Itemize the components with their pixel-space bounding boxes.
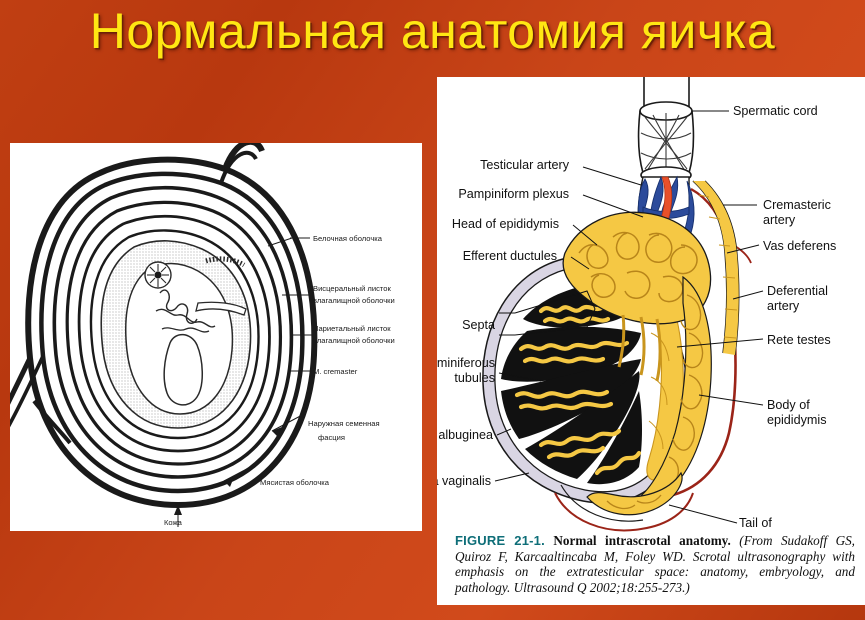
label-testicular-artery: Testicular artery [480, 158, 570, 172]
label-cremasteric-artery: Cremasteric [763, 198, 831, 212]
label-text: Наружная семенная [308, 419, 380, 428]
label-text: Кожа [164, 518, 183, 527]
label-tunica-vaginalis: Tunica vaginalis [437, 474, 491, 488]
testis-body-shaded [101, 241, 250, 428]
label-text: влагалищной оболочки [313, 296, 395, 305]
label-cremasteric-artery-line2: artery [763, 213, 796, 227]
label-text: влагалищной оболочки [313, 336, 395, 345]
label-seminiferous-tubules: Seminiferous [437, 356, 495, 370]
label-tunica-albuginea: Белочная оболочка [313, 234, 383, 243]
right-figure-panel: Testicular artery Pampiniform plexus Hea… [437, 77, 865, 605]
left-figure-panel: Белочная оболочка Висцеральный листок вл… [10, 143, 422, 531]
label-text: Висцеральный листок [313, 284, 392, 293]
label-text: фасция [318, 433, 345, 442]
label-pampiniform-plexus: Pampiniform plexus [458, 187, 569, 201]
vessel-rosette [145, 262, 171, 288]
label-efferent-ductules: Efferent ductules [463, 249, 557, 263]
figure-number: FIGURE 21-1. [455, 533, 545, 548]
page-title: Нормальная анатомия яичка [0, 0, 865, 66]
figure-caption-title: Normal intrascrotal anatomy. [545, 533, 739, 548]
label-septa: Septa [462, 318, 495, 332]
label-skin: Кожа [164, 518, 183, 527]
intrascrotal-anatomy-illustration: Testicular artery Pampiniform plexus Hea… [437, 77, 865, 537]
label-tunica-albuginea: Tunica albuginea [437, 428, 493, 442]
label-dartos-fascia: Мясистая оболочка [260, 478, 330, 487]
label-seminiferous-tubules-line2: tubules [454, 371, 495, 385]
label-text: Мясистая оболочка [260, 478, 330, 487]
label-cremaster-muscle: M. cremaster [313, 367, 358, 376]
scrotal-layers-diagram: Белочная оболочка Висцеральный листок вл… [10, 143, 422, 531]
label-text: M. cremaster [313, 367, 358, 376]
label-body-of-epididymis-line2: epididymis [767, 413, 827, 427]
figure-caption: FIGURE 21-1. Normal intrascrotal anatomy… [455, 533, 855, 595]
label-vas-deferens: Vas deferens [763, 239, 836, 253]
label-tail-of-epididymis: Tail of [739, 516, 772, 530]
label-head-of-epididymis: Head of epididymis [452, 217, 559, 231]
label-text: Париетальный листок [313, 324, 391, 333]
label-spermatic-cord: Spermatic cord [733, 104, 818, 118]
label-deferential-artery-line2: artery [767, 299, 800, 313]
label-text: Белочная оболочка [313, 234, 383, 243]
label-body-of-epididymis: Body of [767, 398, 810, 412]
label-rete-testes: Rete testes [767, 333, 831, 347]
label-deferential-artery: Deferential [767, 284, 828, 298]
